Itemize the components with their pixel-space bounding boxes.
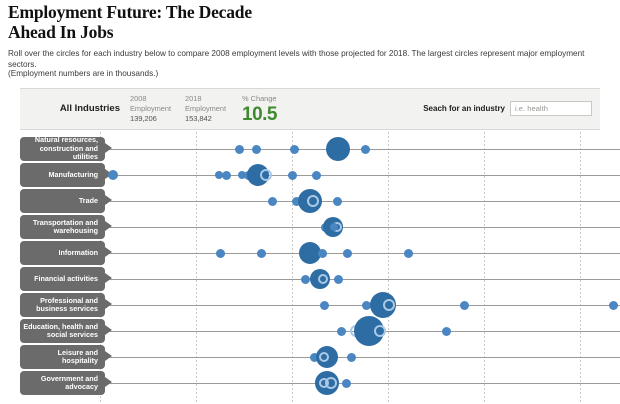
page-title: Employment Future: The Decade Ahead In J… [8, 2, 428, 42]
search-area: Seach for an industry [423, 101, 592, 116]
page-title-line-1: Employment Future: The Decade [8, 2, 252, 22]
search-label: Seach for an industry [423, 104, 505, 113]
summary-industry-label: All Industries [36, 103, 120, 114]
bubble-chart: Natural resources,construction and utili… [0, 132, 620, 404]
datapoint-2018-projection[interactable] [307, 195, 319, 207]
stat-2008: 2008 Employment 139,206 [130, 94, 185, 124]
units-note: (Employment numbers are in thousands.) [8, 68, 408, 79]
datapoint-2008[interactable] [312, 171, 321, 180]
datapoint-2008[interactable] [252, 145, 261, 154]
datapoint-2008[interactable] [288, 171, 297, 180]
datapoint-2008[interactable] [342, 379, 351, 388]
stat-2018: 2018 Employment 153,842 [185, 94, 240, 124]
datapoint-2008[interactable] [334, 275, 343, 284]
datapoint-2008[interactable] [404, 249, 413, 258]
datapoint-2008[interactable] [222, 171, 231, 180]
stat-2018-year: 2018 [185, 94, 201, 103]
stat-change-caption: % Change [242, 94, 277, 103]
datapoint-2008[interactable] [235, 145, 244, 154]
datapoint-2008[interactable] [609, 301, 618, 310]
datapoint-2018-projection[interactable] [319, 352, 329, 362]
datapoint-2008[interactable] [333, 197, 342, 206]
datapoint-2008[interactable] [330, 223, 338, 231]
datapoint-2008-major[interactable] [326, 137, 350, 161]
datapoint-2018-projection[interactable] [374, 325, 386, 337]
datapoint-2008[interactable] [337, 327, 346, 336]
datapoint-2008[interactable] [257, 249, 266, 258]
stat-2018-value: 153,842 [185, 114, 240, 124]
stat-2008-value: 139,206 [130, 114, 185, 124]
page-title-line-2: Ahead In Jobs [8, 22, 428, 42]
intro-text: Roll over the circles for each industry … [8, 48, 608, 70]
search-input[interactable] [510, 101, 592, 116]
datapoint-2018-projection[interactable] [318, 274, 328, 284]
datapoint-2018-projection[interactable] [325, 377, 337, 389]
datapoint-2008[interactable] [301, 275, 310, 284]
stat-2018-caption: Employment [185, 104, 226, 113]
datapoint-2018-projection[interactable] [383, 299, 395, 311]
datapoint-2018-projection[interactable] [260, 169, 272, 181]
datapoint-2008[interactable] [108, 170, 118, 180]
stat-2008-year: 2008 [130, 94, 146, 103]
summary-banner: All Industries 2008 Employment 139,206 2… [20, 88, 600, 130]
stat-change-value: 10.5 [242, 105, 277, 124]
datapoint-2008[interactable] [268, 197, 277, 206]
infographic-page: Employment Future: The Decade Ahead In J… [0, 0, 620, 404]
datapoint-2008[interactable] [361, 145, 370, 154]
datapoint-2008[interactable] [343, 249, 352, 258]
datapoint-2008[interactable] [318, 249, 327, 258]
datapoint-2008[interactable] [320, 301, 329, 310]
datapoint-2008[interactable] [442, 327, 451, 336]
stat-percent-change: % Change 10.5 [242, 94, 277, 124]
datapoint-2008[interactable] [216, 249, 225, 258]
datapoint-2008[interactable] [347, 353, 356, 362]
datapoint-2008[interactable] [290, 145, 299, 154]
chart-datapoints [0, 132, 620, 404]
datapoint-2008[interactable] [460, 301, 469, 310]
stat-2008-caption: Employment [130, 104, 171, 113]
